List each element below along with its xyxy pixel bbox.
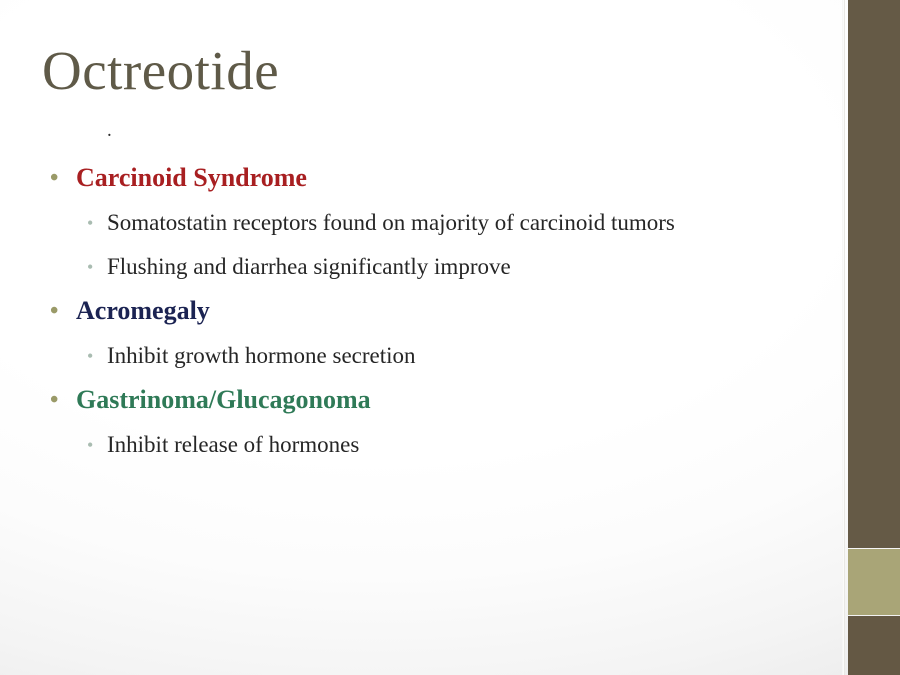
list-item: • Somatostatin receptors found on majori… [0, 203, 820, 243]
slide-body-content: • Carcinoid Syndrome • Somatostatin rece… [0, 158, 820, 469]
bullet-dot-icon: • [87, 203, 95, 243]
list-item: • Inhibit growth hormone secretion [0, 336, 820, 376]
rail-separator-line [842, 0, 845, 675]
heading-gastrinoma-glucagonoma-label: Gastrinoma/Glucagonoma [76, 385, 371, 414]
presentation-slide: Octreotide . • Carcinoid Syndrome • Soma… [0, 0, 900, 675]
heading-acromegaly: • Acromegaly [0, 291, 820, 331]
list-item-label: Flushing and diarrhea significantly impr… [107, 254, 511, 279]
bullet-dot-icon: • [87, 425, 95, 465]
bullet-dot-icon: • [50, 158, 59, 198]
stray-period-mark: . [107, 121, 112, 140]
list-item-label: Somatostatin receptors found on majority… [107, 210, 675, 235]
bullet-dot-icon: • [87, 247, 95, 287]
content-group-gastrinoma-glucagonoma: • Gastrinoma/Glucagonoma • Inhibit relea… [0, 380, 820, 465]
rail-band-brown-top [848, 0, 900, 548]
content-group-carcinoid-syndrome: • Carcinoid Syndrome • Somatostatin rece… [0, 158, 820, 287]
list-item-label: Inhibit release of hormones [107, 432, 359, 457]
bullet-dot-icon: • [50, 380, 59, 420]
list-item: • Flushing and diarrhea significantly im… [0, 247, 820, 287]
heading-gastrinoma-glucagonoma: • Gastrinoma/Glucagonoma [0, 380, 820, 420]
rail-band-tan [848, 549, 900, 615]
list-item-label: Inhibit growth hormone secretion [107, 343, 416, 368]
rail-band-brown-bottom [848, 616, 900, 675]
bullet-dot-icon: • [50, 291, 59, 331]
slide-decorative-rail [836, 0, 900, 675]
slide-title: Octreotide [42, 42, 279, 100]
content-group-acromegaly: • Acromegaly • Inhibit growth hormone se… [0, 291, 820, 376]
heading-carcinoid-syndrome-label: Carcinoid Syndrome [76, 163, 307, 192]
heading-carcinoid-syndrome: • Carcinoid Syndrome [0, 158, 820, 198]
heading-acromegaly-label: Acromegaly [76, 296, 210, 325]
list-item: • Inhibit release of hormones [0, 425, 820, 465]
bullet-dot-icon: • [87, 336, 95, 376]
